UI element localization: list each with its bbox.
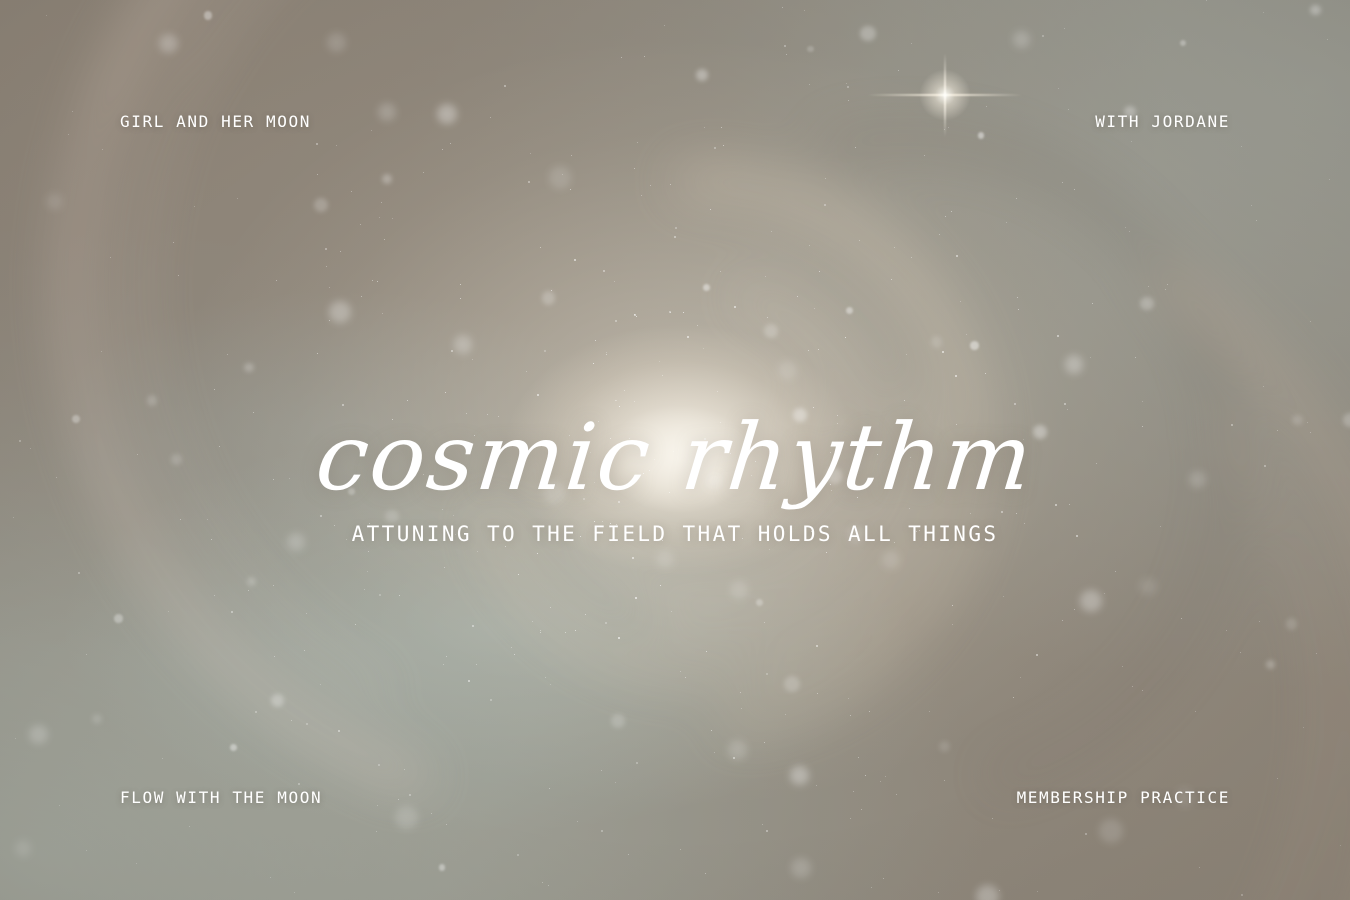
star-dot	[306, 613, 307, 614]
star-dot	[1085, 833, 1087, 835]
star-dot	[1057, 335, 1059, 337]
star-dot	[446, 824, 447, 825]
star-dot	[446, 656, 447, 657]
star-dot	[766, 673, 768, 675]
star-dot	[985, 373, 986, 374]
star-dot	[966, 334, 967, 335]
star-dot	[769, 549, 770, 550]
star-dot	[848, 100, 849, 101]
bokeh-dot	[1065, 355, 1083, 373]
star-dot	[880, 781, 881, 782]
star-dot	[1115, 571, 1116, 572]
star-dot	[593, 363, 594, 364]
star-dot	[316, 143, 318, 145]
star-dot	[320, 684, 321, 685]
star-dot	[274, 656, 275, 657]
star-dot	[248, 590, 249, 591]
star-dot	[367, 571, 368, 572]
star-dot	[355, 624, 356, 625]
bokeh-dot	[1140, 297, 1154, 311]
star-dot	[562, 174, 563, 175]
star-dot	[808, 350, 809, 351]
star-dot	[1062, 182, 1063, 183]
star-dot	[671, 611, 672, 612]
bokeh-dot	[378, 103, 396, 121]
star-dot	[1241, 894, 1243, 896]
star-dot	[685, 677, 686, 678]
star-dot	[336, 145, 337, 146]
star-dot	[1259, 621, 1260, 622]
star-dot	[771, 231, 772, 232]
star-dot	[194, 206, 195, 207]
star-dot	[378, 764, 380, 766]
star-dot	[1016, 198, 1017, 199]
star-dot	[1017, 297, 1018, 298]
star-dot	[945, 216, 946, 217]
star-dot	[423, 172, 424, 173]
bokeh-dot	[395, 806, 418, 829]
star-dot	[1263, 12, 1264, 13]
star-dot	[1037, 891, 1038, 892]
star-dot	[911, 43, 912, 44]
bokeh-dot	[437, 104, 457, 124]
star-dot	[514, 654, 515, 655]
star-dot	[720, 271, 721, 272]
bokeh-dot	[159, 34, 178, 53]
star-dot	[443, 664, 444, 665]
star-dot	[460, 298, 461, 299]
star-dot	[634, 314, 636, 316]
star-dot	[540, 247, 541, 248]
brand-label-top-left: GIRL AND HER MOON	[120, 112, 311, 131]
bokeh-dot	[271, 694, 284, 707]
star-dot	[325, 248, 327, 250]
star-dot	[273, 585, 274, 586]
star-dot	[361, 296, 362, 297]
star-dot	[528, 181, 530, 183]
star-dot	[102, 149, 103, 150]
star-dot	[518, 574, 519, 575]
star-dot	[46, 15, 47, 16]
star-dot	[824, 204, 826, 206]
star-dot	[472, 359, 473, 360]
star-dot	[490, 699, 492, 701]
star-dot	[855, 147, 856, 148]
star-dot	[703, 348, 704, 349]
star-dot	[409, 794, 411, 796]
bokeh-dot	[549, 166, 572, 189]
star-dot	[734, 306, 736, 308]
star-dot	[670, 184, 671, 185]
star-dot	[1135, 357, 1136, 358]
star-dot	[782, 7, 783, 8]
bokeh-dot	[611, 714, 626, 729]
bokeh-dot	[439, 864, 446, 871]
star-dot	[575, 630, 576, 631]
star-dot	[214, 389, 215, 390]
star-dot	[714, 752, 715, 753]
star-dot	[896, 794, 897, 795]
bokeh-dot	[931, 336, 943, 348]
star-dot	[960, 301, 961, 302]
star-dot	[585, 614, 586, 615]
star-dot	[1092, 303, 1093, 304]
star-dot	[551, 290, 552, 291]
star-dot	[859, 240, 860, 241]
star-dot	[304, 650, 305, 651]
star-dot	[637, 142, 638, 143]
star-dot	[364, 589, 365, 590]
star-dot	[669, 311, 671, 313]
star-dot	[537, 553, 538, 554]
star-dot	[674, 236, 676, 238]
star-dot	[951, 211, 952, 212]
star-dot	[942, 351, 944, 353]
star-dot	[1206, 0, 1207, 1]
star-dot	[540, 632, 541, 633]
bokeh-dot	[764, 324, 778, 338]
star-dot	[237, 198, 238, 199]
star-dot	[885, 776, 886, 777]
star-dot	[845, 337, 846, 338]
star-dot	[706, 651, 707, 652]
star-dot	[1195, 711, 1196, 712]
bokeh-dot	[15, 840, 32, 857]
bokeh-dot	[204, 11, 213, 20]
star-dot	[861, 809, 862, 810]
star-dot	[1058, 88, 1059, 89]
star-dot	[628, 854, 629, 855]
star-dot	[368, 551, 369, 552]
star-dot	[865, 775, 866, 776]
star-dot	[476, 664, 477, 665]
star-dot	[1142, 401, 1143, 402]
star-dot	[765, 276, 766, 277]
star-dot	[372, 280, 373, 281]
bokeh-dot	[1099, 819, 1123, 843]
star-dot	[15, 738, 16, 739]
bokeh-dot	[1266, 660, 1275, 669]
star-dot	[670, 312, 671, 313]
star-dot	[379, 217, 380, 218]
bokeh-dot	[1139, 578, 1157, 596]
star-dot	[571, 155, 572, 156]
star-dot	[766, 830, 768, 832]
star-dot	[1329, 179, 1330, 180]
star-dot	[825, 178, 826, 179]
host-label-top-right: WITH JORDANE	[1095, 112, 1230, 131]
star-dot	[1303, 727, 1304, 728]
star-dot	[392, 218, 393, 219]
star-dot	[711, 730, 712, 731]
star-dot	[376, 831, 377, 832]
star-dot	[1181, 618, 1182, 619]
star-dot	[601, 830, 603, 832]
bokeh-dot	[92, 714, 102, 724]
bokeh-dot	[790, 766, 809, 785]
star-dot	[574, 259, 576, 261]
star-dot	[173, 242, 174, 243]
star-dot	[664, 25, 665, 26]
star-dot	[68, 134, 69, 135]
star-dot	[952, 624, 953, 625]
star-dot	[381, 202, 382, 203]
star-dot	[86, 654, 87, 655]
star-dot	[615, 782, 616, 783]
star-dot	[650, 185, 651, 186]
star-dot	[1062, 620, 1063, 621]
star-dot	[504, 85, 506, 87]
star-dot	[999, 890, 1000, 891]
star-dot	[615, 320, 617, 322]
star-dot	[606, 354, 607, 355]
star-dot	[404, 769, 405, 770]
star-dot	[850, 818, 851, 819]
star-dot	[360, 224, 361, 225]
star-dot	[635, 597, 637, 599]
star-dot	[1122, 666, 1123, 667]
bokeh-dot	[882, 551, 900, 569]
star-dot	[1226, 630, 1227, 631]
star-dot	[306, 723, 308, 725]
bokeh-dot	[778, 361, 797, 380]
star-dot	[442, 149, 443, 150]
star-dot	[490, 117, 491, 118]
star-dot	[371, 130, 372, 131]
bokeh-dot	[791, 858, 811, 878]
star-dot	[431, 813, 432, 814]
bokeh-dot	[230, 744, 237, 751]
star-dot	[1240, 652, 1241, 653]
star-dot	[1067, 409, 1068, 410]
bokeh-dot	[970, 341, 979, 350]
star-dot	[817, 693, 818, 694]
star-dot	[317, 174, 318, 175]
bokeh-dot	[976, 885, 999, 900]
star-dot	[717, 391, 718, 392]
star-dot	[819, 271, 820, 272]
bokeh-dot	[542, 291, 555, 304]
star-dot	[340, 251, 341, 252]
bokeh-dot	[978, 132, 984, 138]
tagline-label-bottom-left: FLOW WITH THE MOON	[120, 788, 322, 807]
star-dot	[1132, 686, 1133, 687]
star-dot	[660, 585, 661, 586]
star-dot	[1125, 227, 1126, 228]
star-dot	[398, 799, 399, 800]
star-dot	[86, 850, 87, 851]
star-dot	[298, 783, 300, 785]
star-dot	[72, 111, 73, 112]
star-dot	[407, 400, 408, 401]
star-dot	[944, 780, 945, 781]
star-dot	[764, 622, 765, 623]
star-dot	[450, 143, 451, 144]
star-dot	[733, 757, 735, 759]
star-dot	[472, 625, 474, 627]
star-dot	[662, 375, 663, 376]
star-dot	[632, 557, 634, 559]
bokeh-dot	[696, 69, 708, 81]
star-dot	[818, 349, 819, 350]
star-dot	[444, 567, 445, 568]
star-dot	[379, 594, 381, 596]
bokeh-dot	[1013, 31, 1029, 47]
star-dot	[809, 84, 810, 85]
star-dot	[540, 630, 541, 631]
star-dot	[955, 375, 957, 377]
star-dot	[721, 127, 722, 128]
star-dot	[1256, 220, 1257, 221]
star-dot	[767, 317, 768, 318]
star-dot	[227, 354, 228, 355]
star-dot	[992, 818, 993, 819]
star-dot	[944, 129, 945, 130]
star-dot	[1074, 609, 1075, 610]
star-dot	[511, 647, 512, 648]
star-dot	[869, 711, 870, 712]
star-dot	[1003, 596, 1004, 597]
star-dot	[214, 595, 215, 596]
star-dot	[697, 325, 698, 326]
star-dot	[797, 296, 798, 297]
star-dot	[924, 155, 925, 156]
star-dot	[351, 191, 352, 192]
star-dot	[784, 45, 786, 47]
star-dot	[382, 313, 383, 314]
star-dot	[1090, 357, 1091, 358]
star-dot	[904, 400, 905, 401]
bokeh-dot	[703, 284, 710, 291]
star-dot	[1316, 653, 1317, 654]
star-dot	[634, 401, 635, 402]
star-dot	[317, 353, 318, 354]
star-dot	[741, 708, 742, 709]
star-dot	[532, 621, 533, 622]
star-dot	[1148, 286, 1149, 287]
star-dot	[110, 257, 111, 258]
bokeh-dot	[656, 550, 674, 568]
star-dot	[601, 770, 602, 771]
category-label-bottom-right: MEMBERSHIP PRACTICE	[1017, 788, 1230, 807]
bokeh-dot	[314, 198, 328, 212]
star-dot	[680, 671, 681, 672]
page-title: cosmic rhythm	[0, 412, 1350, 504]
star-dot	[468, 680, 470, 682]
star-dot	[636, 316, 637, 317]
star-dot	[683, 312, 684, 313]
star-dot	[1006, 222, 1007, 223]
star-dot	[548, 885, 549, 886]
star-dot	[1251, 205, 1252, 206]
star-dot	[1340, 845, 1341, 846]
star-dot	[956, 255, 958, 257]
star-dot	[883, 878, 884, 879]
star-dot	[1074, 189, 1075, 190]
star-dot	[1142, 690, 1143, 691]
star-dot	[565, 632, 566, 633]
star-dot	[1042, 35, 1044, 37]
star-dot	[1131, 141, 1132, 142]
star-dot	[1068, 109, 1069, 110]
star-dot	[460, 284, 461, 285]
star-dot	[621, 57, 622, 58]
page-subtitle: ATTUNING TO THE FIELD THAT HOLDS ALL THI…	[0, 522, 1350, 546]
bokeh-dot	[807, 46, 814, 53]
star-dot	[78, 572, 80, 574]
star-dot	[231, 611, 233, 613]
star-dot	[377, 281, 378, 282]
star-dot	[1064, 403, 1066, 405]
bokeh-dot	[730, 581, 748, 599]
bokeh-dot	[29, 725, 48, 744]
star-dot	[634, 168, 635, 169]
star-dot	[1020, 677, 1021, 678]
bokeh-dot	[329, 301, 352, 324]
star-dot	[59, 805, 60, 806]
star-dot	[624, 390, 625, 391]
star-dot	[948, 127, 949, 128]
star-dot	[929, 711, 930, 712]
hero-banner: GIRL AND HER MOON WITH JORDANE FLOW WITH…	[0, 0, 1350, 900]
star-dot	[826, 552, 827, 553]
star-dot	[377, 805, 378, 806]
star-dot	[853, 791, 854, 792]
star-dot	[939, 234, 940, 235]
star-dot	[850, 715, 851, 716]
star-dot	[816, 785, 817, 786]
star-dot	[636, 762, 638, 764]
star-dot	[101, 351, 102, 352]
star-dot	[704, 127, 705, 128]
star-dot	[710, 209, 711, 210]
star-dot	[595, 340, 596, 341]
star-dot	[1013, 697, 1014, 698]
star-dot	[1167, 284, 1168, 285]
bokeh-dot	[860, 26, 875, 41]
star-dot	[544, 350, 546, 352]
star-dot	[871, 887, 872, 888]
star-dot	[136, 863, 137, 864]
star-dot	[911, 257, 912, 258]
bokeh-dot	[114, 614, 123, 623]
star-dot	[1104, 593, 1105, 594]
star-dot	[178, 275, 179, 276]
star-dot	[906, 354, 907, 355]
star-dot	[858, 757, 859, 758]
star-dot	[687, 336, 689, 338]
star-dot	[537, 394, 539, 396]
star-dot	[445, 392, 446, 393]
star-dot	[1199, 867, 1200, 868]
bokeh-dot	[327, 33, 346, 52]
star-dot	[641, 195, 642, 196]
star-dot	[846, 83, 847, 84]
star-dot	[814, 308, 815, 309]
star-dot	[764, 742, 765, 743]
star-dot	[680, 849, 681, 850]
star-dot	[659, 361, 660, 362]
star-dot	[1310, 321, 1311, 322]
star-dot	[545, 677, 546, 678]
star-dot	[848, 698, 849, 699]
bokeh-dot	[147, 395, 158, 406]
star-dot	[291, 720, 292, 721]
star-dot	[270, 877, 271, 878]
star-dot	[1241, 146, 1242, 147]
star-dot	[986, 106, 987, 107]
star-dot	[952, 605, 953, 606]
